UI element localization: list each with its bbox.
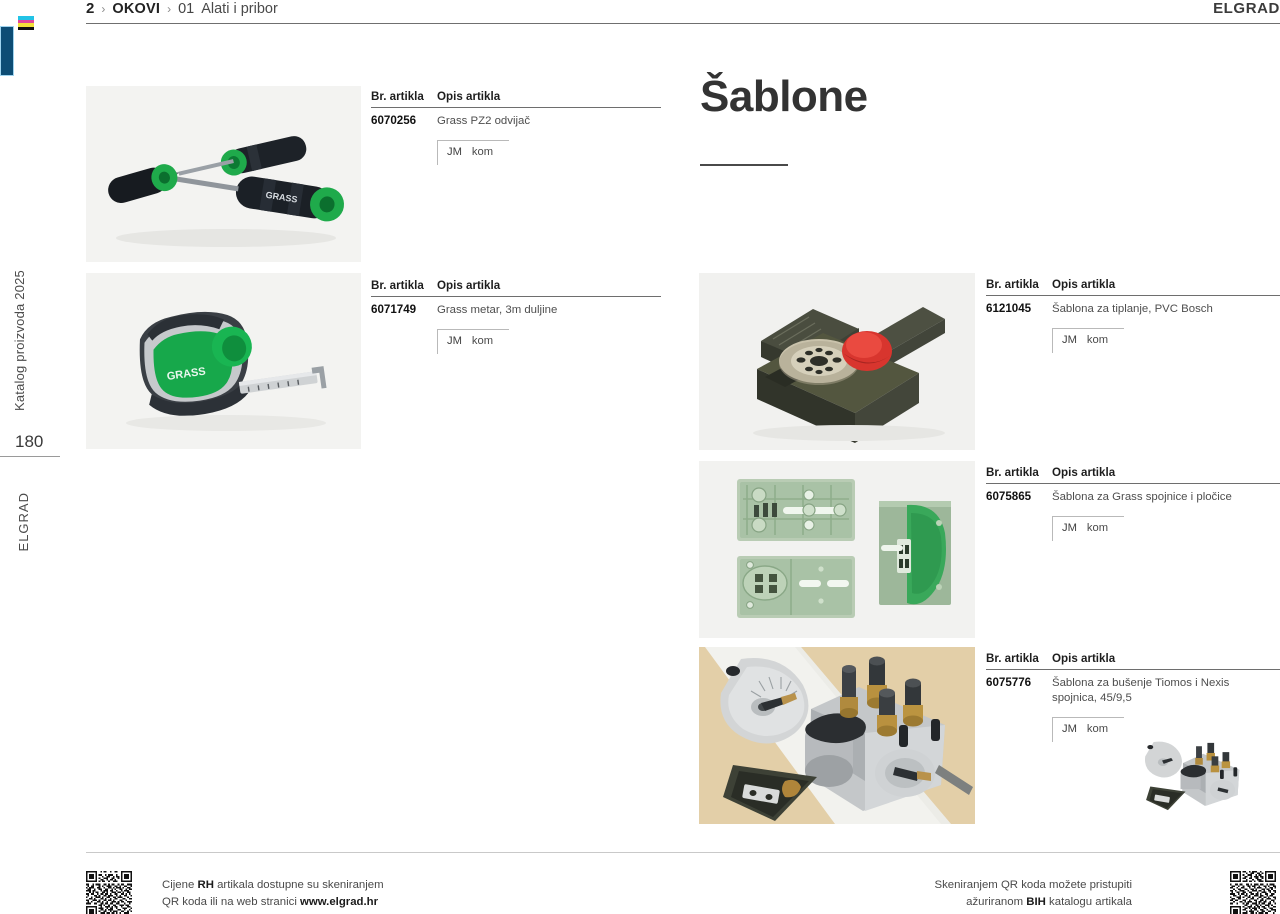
product-description: Grass metar, 3m duljine bbox=[437, 303, 557, 318]
unit-key: JM bbox=[1062, 723, 1077, 735]
footer-left-l1-post: artikala dostupne su skeniranjem bbox=[214, 879, 384, 891]
rail-divider bbox=[0, 456, 60, 457]
unit-value: kom bbox=[472, 146, 493, 158]
table-header-divider bbox=[986, 483, 1280, 484]
footer-right-l2-bold: BIH bbox=[1026, 896, 1046, 908]
product-description: Grass PZ2 odvijač bbox=[437, 114, 530, 129]
table-header-divider bbox=[371, 296, 661, 297]
product-table-6070256: Br. artikla Opis artikla 6070256 Grass P… bbox=[371, 90, 661, 165]
unit-value: kom bbox=[1087, 334, 1108, 346]
unit-of-measure-box: JM kom bbox=[1052, 516, 1124, 541]
breadcrumb-subcategory-name[interactable]: Alati i pribor bbox=[201, 1, 278, 17]
qr-code-rh-icon[interactable] bbox=[86, 871, 132, 914]
product-description: Šablona za tiplanje, PVC Bosch bbox=[1052, 302, 1213, 317]
footer-right-lines: Skeniranjem QR koda možete pristupiti až… bbox=[934, 877, 1132, 910]
grass-pz2-screwdrivers-photo: GRASS bbox=[86, 86, 361, 262]
product-image-pvc-bosch-dowel-jig bbox=[699, 273, 975, 450]
breadcrumb-page-number: 2 bbox=[86, 0, 94, 17]
table-header-row: Br. artikla Opis artikla bbox=[986, 278, 1280, 291]
page-edge-tab bbox=[0, 26, 14, 76]
product-image-tiomos-nexis-drilling-jig bbox=[699, 647, 975, 824]
col-header-code: Br. artikla bbox=[986, 652, 1052, 665]
table-header-row: Br. artikla Opis artikla bbox=[986, 466, 1280, 479]
col-header-description: Opis artikla bbox=[1052, 652, 1115, 665]
header-brand: ELGRAD bbox=[1213, 0, 1280, 17]
table-row: 6075776 Šablona za bušenje Tiomos i Nexi… bbox=[986, 676, 1280, 706]
breadcrumb: 2 › OKOVI › 01 Alati i pribor bbox=[86, 0, 278, 17]
qr-code-bih-icon[interactable] bbox=[1230, 871, 1276, 914]
table-row: 6070256 Grass PZ2 odvijač bbox=[371, 114, 661, 129]
table-row: 6121045 Šablona za tiplanje, PVC Bosch bbox=[986, 302, 1280, 317]
col-header-description: Opis artikla bbox=[437, 279, 500, 292]
col-header-code: Br. artikla bbox=[986, 278, 1052, 291]
table-header-divider bbox=[371, 107, 661, 108]
table-header-divider bbox=[986, 295, 1280, 296]
col-header-code: Br. artikla bbox=[371, 90, 437, 103]
breadcrumb-separator-icon: › bbox=[101, 2, 105, 16]
rail-page-number: 180 bbox=[15, 432, 43, 452]
footer-right-line-1: Skeniranjem QR koda možete pristupiti bbox=[934, 877, 1132, 894]
col-header-description: Opis artikla bbox=[437, 90, 500, 103]
rail-brand-label: ELGRAD bbox=[16, 492, 31, 551]
unit-key: JM bbox=[447, 146, 462, 158]
footer-left-l2-bold[interactable]: www.elgrad.hr bbox=[300, 896, 378, 908]
qr-code-rh-svg bbox=[86, 871, 132, 914]
unit-of-measure-box: JM kom bbox=[1052, 328, 1124, 353]
tiomos-nexis-drilling-jig-photo bbox=[699, 647, 975, 824]
product-description: Šablona za Grass spojnice i pločice bbox=[1052, 490, 1232, 505]
page-header: 2 › OKOVI › 01 Alati i pribor ELGRAD bbox=[86, 0, 1280, 22]
product-code: 6075865 bbox=[986, 490, 1052, 505]
table-header-row: Br. artikla Opis artikla bbox=[371, 279, 661, 292]
product-code: 6121045 bbox=[986, 302, 1052, 317]
footer-right-l2-post: katalogu artikala bbox=[1046, 896, 1132, 908]
footer-left-l2-pre: QR koda ili na web stranici bbox=[162, 896, 300, 908]
footer-left-line-2: QR koda ili na web stranici www.elgrad.h… bbox=[162, 894, 384, 911]
col-header-code: Br. artikla bbox=[371, 279, 437, 292]
footer-divider bbox=[86, 852, 1280, 853]
section-title: Šablone bbox=[700, 72, 868, 122]
footer-left-l1-pre: Cijene bbox=[162, 879, 197, 891]
unit-key: JM bbox=[1062, 334, 1077, 346]
product-table-6071749: Br. artikla Opis artikla 6071749 Grass m… bbox=[371, 279, 661, 354]
table-row: 6071749 Grass metar, 3m duljine bbox=[371, 303, 661, 318]
breadcrumb-subcategory-code: 01 bbox=[178, 1, 194, 17]
unit-value: kom bbox=[472, 335, 493, 347]
product-image-grass-tape-measure: GRASS bbox=[86, 273, 361, 449]
product-code: 6075776 bbox=[986, 676, 1052, 706]
header-divider bbox=[86, 23, 1280, 24]
product-image-grass-pz2-screwdrivers: GRASS bbox=[86, 86, 361, 262]
footer-left-l1-bold: RH bbox=[197, 879, 213, 891]
footer-left-line-1: Cijene RH artikala dostupne su skeniranj… bbox=[162, 877, 384, 894]
table-header-row: Br. artikla Opis artikla bbox=[986, 652, 1280, 665]
product-code: 6070256 bbox=[371, 114, 437, 129]
qr-code-bih-svg bbox=[1230, 871, 1276, 914]
grass-hinge-template-photo bbox=[699, 461, 975, 638]
unit-key: JM bbox=[447, 335, 462, 347]
tiomos-nexis-jig-inset-photo bbox=[1128, 735, 1246, 817]
footer-right-l2-pre: ažuriranom bbox=[966, 896, 1026, 908]
product-image-grass-hinge-template bbox=[699, 461, 975, 638]
col-header-description: Opis artikla bbox=[1052, 466, 1115, 479]
catalog-page: 2 › OKOVI › 01 Alati i pribor ELGRAD Kat… bbox=[0, 0, 1280, 914]
col-header-description: Opis artikla bbox=[1052, 278, 1115, 291]
table-row: 6075865 Šablona za Grass spojnice i ploč… bbox=[986, 490, 1280, 505]
rail-catalog-label: Katalog proizvoda 2025 bbox=[12, 270, 27, 411]
product-description: Šablona za bušenje Tiomos i Nexis spojni… bbox=[1052, 676, 1267, 706]
unit-value: kom bbox=[1087, 522, 1108, 534]
grass-tape-measure-photo: GRASS bbox=[86, 273, 361, 449]
product-code: 6071749 bbox=[371, 303, 437, 318]
unit-key: JM bbox=[1062, 522, 1077, 534]
unit-of-measure-box: JM kom bbox=[1052, 717, 1124, 742]
section-title-underline bbox=[700, 164, 788, 166]
breadcrumb-separator-icon-2: › bbox=[167, 2, 171, 16]
product-table-6121045: Br. artikla Opis artikla 6121045 Šablona… bbox=[986, 278, 1280, 353]
footer-right-line-2: ažuriranom BIH katalogu artikala bbox=[934, 894, 1132, 911]
cmyk-registration-icon bbox=[18, 16, 34, 30]
unit-of-measure-box: JM kom bbox=[437, 329, 509, 354]
col-header-code: Br. artikla bbox=[986, 466, 1052, 479]
product-table-6075865: Br. artikla Opis artikla 6075865 Šablona… bbox=[986, 466, 1280, 541]
unit-value: kom bbox=[1087, 723, 1108, 735]
table-header-row: Br. artikla Opis artikla bbox=[371, 90, 661, 103]
footer-text-left: Cijene RH artikala dostupne su skeniranj… bbox=[162, 877, 384, 910]
table-header-divider bbox=[986, 669, 1280, 670]
product-inset-image-tiomos-nexis-jig bbox=[1128, 735, 1246, 817]
pvc-bosch-dowel-jig-photo bbox=[699, 273, 975, 450]
breadcrumb-category[interactable]: OKOVI bbox=[112, 1, 160, 17]
product-table-6075776: Br. artikla Opis artikla 6075776 Šablona… bbox=[986, 652, 1280, 742]
unit-of-measure-box: JM kom bbox=[437, 140, 509, 165]
